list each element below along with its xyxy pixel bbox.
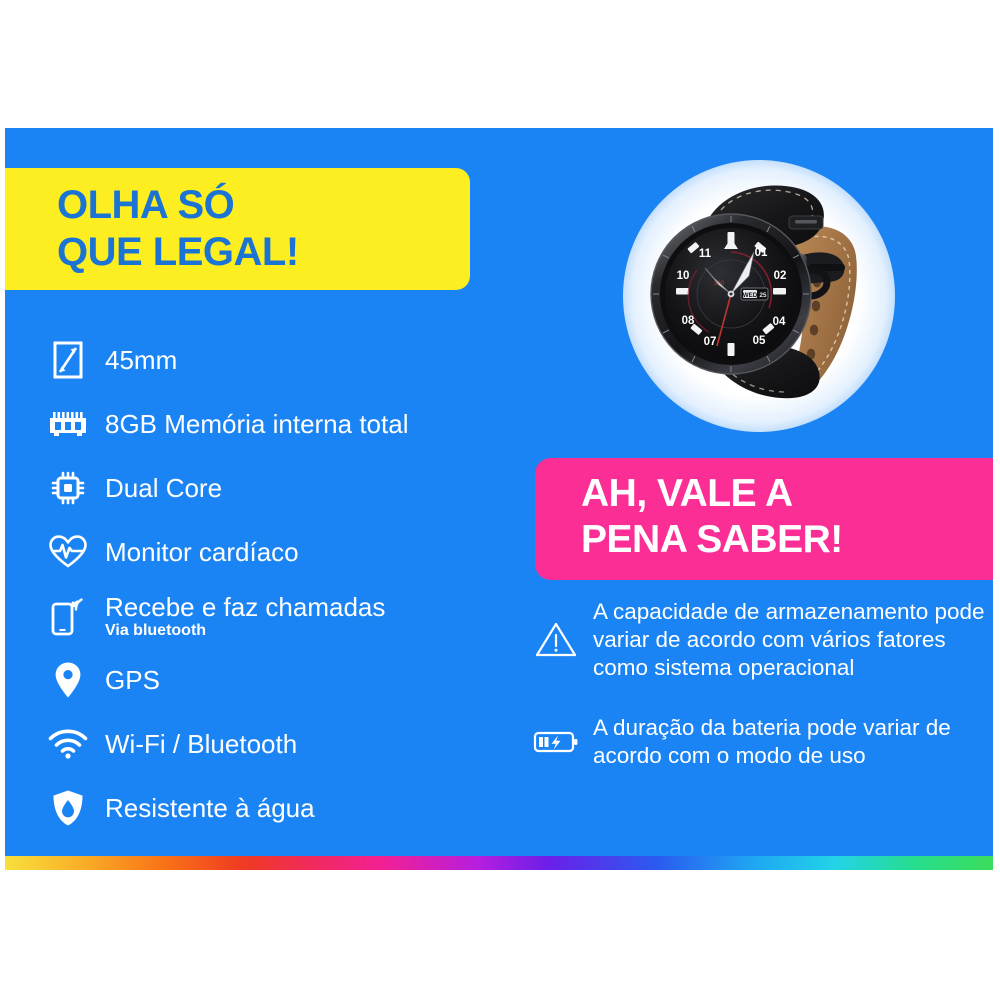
feature-text-memory: 8GB Memória interna total — [105, 409, 408, 439]
feature-row-memory: 8GB Memória interna total — [45, 392, 515, 456]
feature-label: 8GB Memória interna total — [105, 409, 408, 439]
map-pin-icon — [45, 657, 91, 703]
warning-triangle-icon — [529, 613, 583, 667]
pink-banner: AH, VALE A PENA SABER! — [535, 458, 993, 580]
headline-card: OLHA SÓ QUE LEGAL! — [5, 168, 470, 290]
feature-text-heart-rate: Monitor cardíaco — [105, 537, 299, 567]
disclaimer-text: A capacidade de armazenamento pode varia… — [593, 598, 989, 682]
feature-text-processor: Dual Core — [105, 473, 222, 503]
watch-numeral-07: 07 — [704, 336, 717, 348]
feature-label: Monitor cardíaco — [105, 537, 299, 567]
feature-list: 45mm — [45, 328, 515, 840]
watch-numeral-04: 04 — [773, 316, 786, 328]
feature-row-heart-rate: Monitor cardíaco — [45, 520, 515, 584]
feature-row-wifi-bluetooth: Wi-Fi / Bluetooth — [45, 712, 515, 776]
smartwatch-illustration: 01 02 04 05 07 08 10 11 360 — [613, 148, 913, 448]
feature-label: Dual Core — [105, 473, 222, 503]
promo-panel: OLHA SÓ QUE LEGAL! 45mm — [5, 128, 993, 870]
feature-row-processor: Dual Core — [45, 456, 515, 520]
watch-numeral-05: 05 — [753, 335, 766, 347]
rainbow-accent-strip — [5, 856, 993, 870]
feature-label: Resistente à água — [105, 793, 315, 823]
disclaimer-text: A duração da bateria pode variar de acor… — [593, 714, 989, 770]
pink-banner-line-2: PENA SABER! — [581, 517, 993, 563]
feature-label: GPS — [105, 665, 160, 695]
battery-charging-icon — [529, 715, 583, 769]
feature-text-calls: Recebe e faz chamadas Via bluetooth — [105, 592, 385, 640]
feature-row-gps: GPS — [45, 648, 515, 712]
headline-line-1: OLHA SÓ — [57, 182, 470, 229]
cpu-chip-icon — [45, 465, 91, 511]
watch-numeral-01: 01 — [755, 247, 768, 259]
display-size-icon — [45, 337, 91, 383]
feature-label: Wi-Fi / Bluetooth — [105, 729, 297, 759]
feature-sublabel: Via bluetooth — [105, 622, 385, 640]
feature-row-water-resistant: Resistente à água — [45, 776, 515, 840]
feature-row-calls: Recebe e faz chamadas Via bluetooth — [45, 584, 515, 648]
feature-text-display-size: 45mm — [105, 345, 177, 375]
wifi-icon — [45, 721, 91, 767]
watch-date-window: WED 25 — [741, 288, 768, 300]
watch-numeral-10: 10 — [677, 270, 690, 282]
watch-numeral-02: 02 — [774, 270, 787, 282]
headline-line-2: QUE LEGAL! — [57, 229, 470, 276]
feature-label: 45mm — [105, 345, 177, 375]
heart-pulse-icon — [45, 529, 91, 575]
product-image: 01 02 04 05 07 08 10 11 360 — [613, 148, 913, 448]
phone-call-icon — [45, 593, 91, 639]
disclaimer-row-storage: A capacidade de armazenamento pode varia… — [529, 598, 989, 682]
page-canvas: OLHA SÓ QUE LEGAL! 45mm — [0, 0, 1000, 1000]
watch-numeral-11: 11 — [699, 248, 712, 260]
feature-row-display-size: 45mm — [45, 328, 515, 392]
feature-text-water-resistant: Resistente à água — [105, 793, 315, 823]
memory-module-icon — [45, 401, 91, 447]
disclaimer-list: A capacidade de armazenamento pode varia… — [529, 598, 989, 802]
svg-text:WED: WED — [743, 292, 758, 299]
feature-text-gps: GPS — [105, 665, 160, 695]
svg-text:25: 25 — [760, 292, 767, 299]
feature-label: Recebe e faz chamadas — [105, 592, 385, 622]
pink-banner-line-1: AH, VALE A — [581, 471, 993, 517]
feature-text-wifi-bluetooth: Wi-Fi / Bluetooth — [105, 729, 297, 759]
disclaimer-row-battery: A duração da bateria pode variar de acor… — [529, 714, 989, 770]
shield-water-icon — [45, 785, 91, 831]
